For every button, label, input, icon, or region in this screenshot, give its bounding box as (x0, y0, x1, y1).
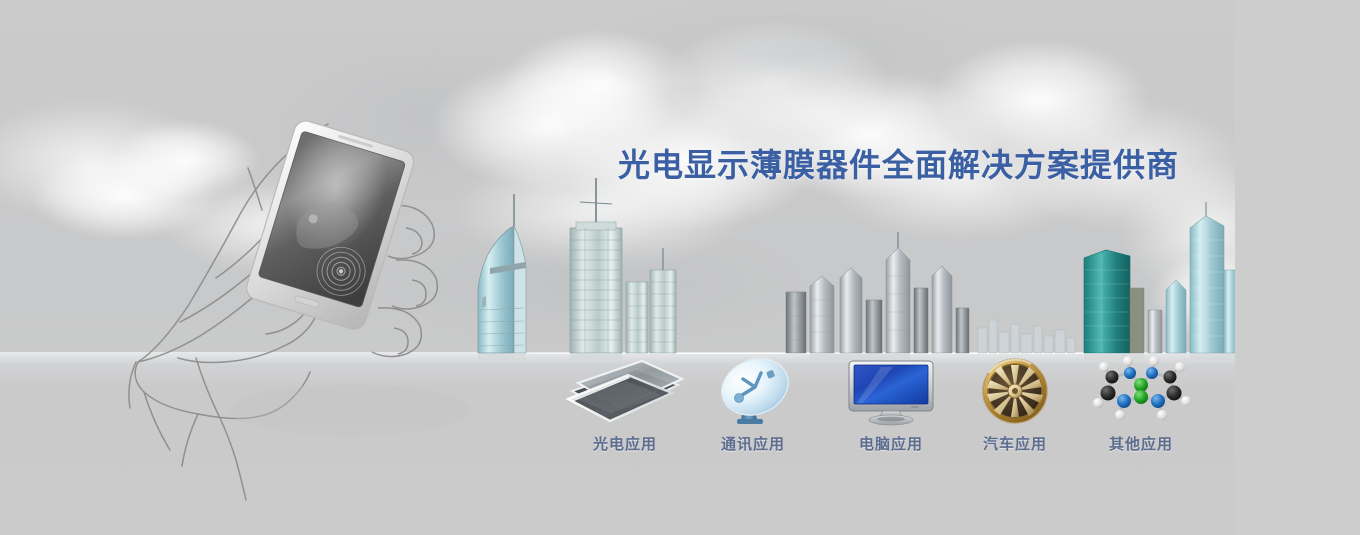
computer-monitor-icon (826, 355, 956, 427)
application-item-other[interactable]: 其他应用 (1076, 355, 1206, 454)
application-item-computer[interactable]: 电脑应用 (826, 355, 956, 454)
application-item-communication[interactable]: 通讯应用 (688, 355, 818, 454)
hero-banner: 光电显示薄膜器件全面解决方案提供商 (0, 0, 1360, 535)
cloud (600, 0, 980, 110)
hand-phone-illustration (120, 110, 480, 510)
skyline-illustration (430, 170, 1240, 360)
application-label: 汽车应用 (950, 433, 1080, 454)
application-item-automotive[interactable]: 汽车应用 (950, 355, 1080, 454)
car-wheel-rim-icon (950, 355, 1080, 427)
application-item-optoelectronic[interactable]: 光电应用 (560, 355, 690, 454)
satellite-dish-icon (688, 355, 818, 427)
page-title: 光电显示薄膜器件全面解决方案提供商 (618, 140, 1179, 186)
banner-right-margin (1235, 0, 1360, 535)
glass-film-panels-icon (560, 355, 690, 427)
application-label: 光电应用 (560, 433, 690, 454)
molecule-model-icon (1076, 355, 1206, 427)
application-list: 光电应用 (560, 355, 1220, 465)
application-label: 电脑应用 (826, 433, 956, 454)
application-label: 其他应用 (1076, 433, 1206, 454)
application-label: 通讯应用 (688, 433, 818, 454)
